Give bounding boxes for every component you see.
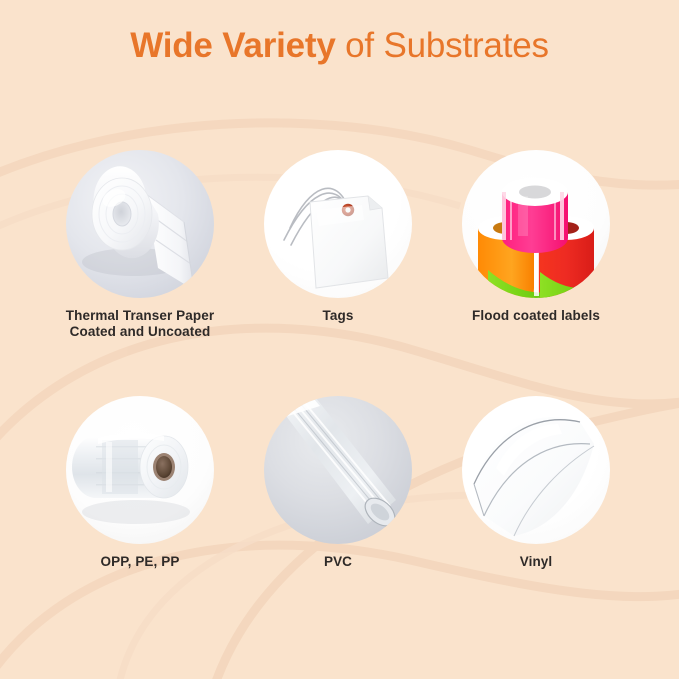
substrate-card-flood-coated-labels[interactable]: Flood coated labels bbox=[423, 150, 649, 324]
substrate-caption: PVC bbox=[225, 554, 451, 570]
substrate-caption-line1: Flood coated labels bbox=[472, 308, 600, 323]
substrate-caption-line1: PVC bbox=[324, 554, 352, 569]
page-title-light: of Substrates bbox=[336, 26, 549, 65]
substrate-card-opp-pe-pp[interactable]: OPP, PE, PP bbox=[27, 396, 253, 570]
clear-vinyl-sheet-image bbox=[462, 396, 610, 544]
substrate-card-vinyl[interactable]: Vinyl bbox=[423, 396, 649, 570]
substrate-caption: Vinyl bbox=[423, 554, 649, 570]
label-roll-image bbox=[66, 150, 214, 298]
clear-pvc-sheet-image bbox=[264, 396, 412, 544]
substrate-caption: Tags bbox=[225, 308, 451, 324]
substrate-caption-line1: Vinyl bbox=[520, 554, 553, 569]
substrate-caption-line2: Coated and Uncoated bbox=[27, 324, 253, 340]
stretch-film-roll-image bbox=[66, 396, 214, 544]
fluorescent-label-rolls-image bbox=[462, 150, 610, 298]
substrate-caption-line1: Thermal Transer Paper bbox=[66, 308, 214, 323]
hang-tag-image bbox=[264, 150, 412, 298]
page-title-strong: Wide Variety bbox=[130, 26, 335, 65]
substrate-card-thermal-transfer-paper[interactable]: Thermal Transer Paper Coated and Uncoate… bbox=[27, 150, 253, 340]
substrate-caption: OPP, PE, PP bbox=[27, 554, 253, 570]
page-title: Wide Variety of Substrates bbox=[0, 26, 679, 66]
substrate-card-tags[interactable]: Tags bbox=[225, 150, 451, 324]
substrate-caption: Flood coated labels bbox=[423, 308, 649, 324]
substrate-row-1: Thermal Transer Paper Coated and Uncoate… bbox=[0, 150, 679, 396]
substrate-caption-line1: OPP, PE, PP bbox=[101, 554, 180, 569]
substrate-card-pvc[interactable]: PVC bbox=[225, 396, 451, 570]
substrate-row-2: OPP, PE, PP bbox=[0, 396, 679, 642]
substrate-caption: Thermal Transer Paper Coated and Uncoate… bbox=[27, 308, 253, 340]
substrate-grid: Thermal Transer Paper Coated and Uncoate… bbox=[0, 150, 679, 642]
infographic-root: Wide Variety of Substrates bbox=[0, 0, 679, 679]
substrate-caption-line1: Tags bbox=[323, 308, 354, 323]
